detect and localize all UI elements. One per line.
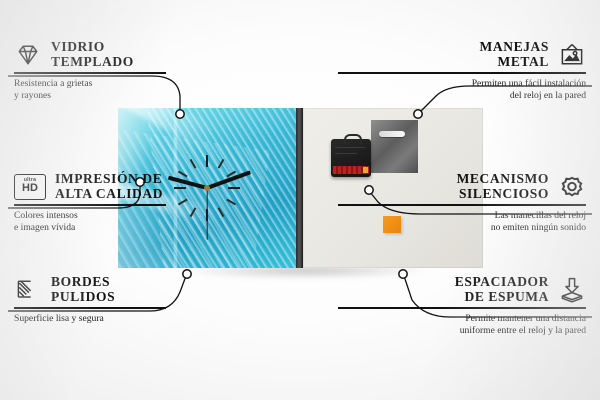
- mechanism-detail: [335, 153, 357, 154]
- feature-rule: [338, 307, 586, 309]
- feature-rule: [338, 72, 586, 74]
- feature-rule: [14, 307, 166, 309]
- feature-title: ESPACIADOR DE ESPUMA: [455, 275, 549, 304]
- feature-description: Las manecillas del reloj no emiten ningú…: [338, 210, 586, 235]
- feature-rule: [14, 72, 166, 74]
- feature-title: VIDRIO TEMPLADO: [51, 40, 134, 69]
- glass-edge: [296, 108, 303, 268]
- feature-description: Resistencia a grietas y rayones: [14, 78, 262, 103]
- ultra-hd-icon: ultra HD: [14, 174, 46, 200]
- feature-title: MANEJAS METAL: [480, 40, 549, 69]
- framed-picture-icon: [558, 41, 586, 69]
- diamond-icon: [14, 41, 42, 69]
- ultra-hd-icon-large-text: HD: [22, 183, 38, 195]
- feature-rule: [338, 204, 586, 206]
- feature-mecanismo-silencioso: MECANISMO SILENCIOSO Las manecillas del …: [338, 172, 586, 235]
- feature-description: Permite mantener una distancia uniforme …: [338, 313, 586, 338]
- gear-icon: [558, 173, 586, 201]
- mechanism-hook: [344, 134, 362, 144]
- feature-espaciador-espuma: ESPACIADOR DE ESPUMA Permite mantener un…: [338, 275, 586, 338]
- feature-impresion-alta-calidad: ultra HD IMPRESIÓN DE ALTA CALIDAD Color…: [14, 172, 262, 235]
- feature-manejas-metal: MANEJAS METAL Permiten una fácil instala…: [338, 40, 586, 103]
- hanger-slot: [379, 131, 405, 137]
- infographic-canvas: VIDRIO TEMPLADO Resistencia a grietas y …: [0, 0, 600, 400]
- mechanism-detail: [335, 147, 365, 148]
- feature-bordes-pulidos: BORDES PULIDOS Superficie lisa y segura: [14, 275, 262, 325]
- feature-description: Superficie lisa y segura: [14, 313, 262, 326]
- feature-title: MECANISMO SILENCIOSO: [457, 172, 549, 201]
- feature-vidrio-templado: VIDRIO TEMPLADO Resistencia a grietas y …: [14, 40, 262, 103]
- feature-title: IMPRESIÓN DE ALTA CALIDAD: [55, 172, 163, 201]
- feature-title: BORDES PULIDOS: [51, 275, 115, 304]
- foam-spacer-icon: [558, 276, 586, 304]
- feature-description: Permiten una fácil instalación del reloj…: [338, 78, 586, 103]
- feature-rule: [14, 204, 166, 206]
- feature-description: Colores intensos e imagen vívida: [14, 210, 262, 235]
- polished-edges-icon: [14, 276, 42, 304]
- metal-hanger-plate: [371, 120, 418, 173]
